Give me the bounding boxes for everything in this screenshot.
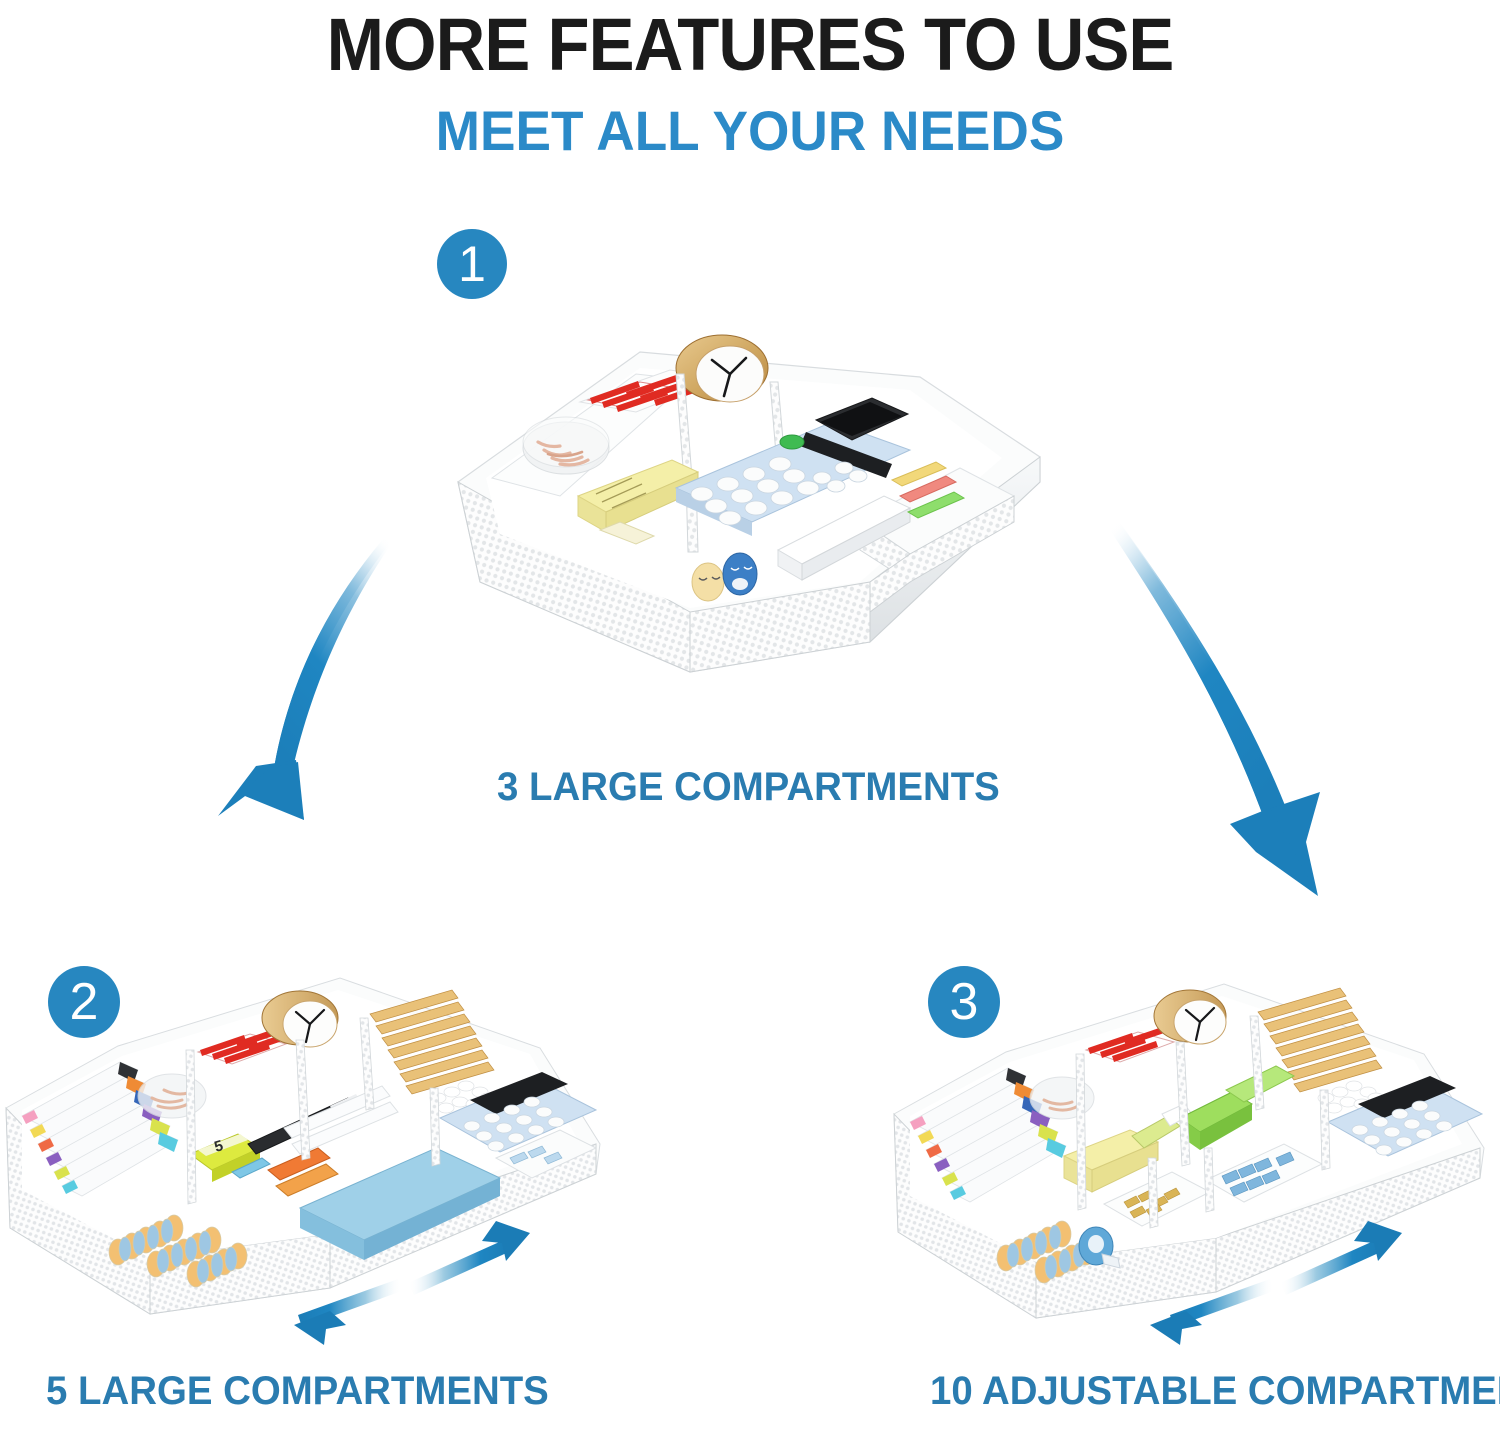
- arrow-down-left: [1150, 1279, 1274, 1345]
- organizer-top-illustration: [440, 282, 1060, 702]
- calculator-on-key: [780, 435, 804, 449]
- page-title: MORE FEATURES TO USE: [53, 2, 1448, 87]
- flow-arrow-left: [200, 520, 530, 850]
- caption-step-2: 5 LARGE COMPARTMENTS: [46, 1369, 549, 1414]
- paper-clips-in-glass-cup: [138, 1074, 206, 1118]
- caption-step-1: 3 LARGE COMPARTMENTS: [497, 765, 1000, 810]
- flow-arrow-right: [1070, 480, 1390, 900]
- caption-step-3: 10 ADJUSTABLE COMPARTMENTS: [930, 1369, 1500, 1414]
- product-image-step-1: [440, 282, 1060, 702]
- arrow-up-right: [408, 1221, 530, 1295]
- arrow-up-right: [1280, 1221, 1402, 1295]
- expand-indicator-step-3: [1140, 1215, 1440, 1350]
- expand-indicator-step-2: [268, 1215, 558, 1350]
- wooden-desk-clock: [676, 335, 768, 402]
- infographic-page: MORE FEATURES TO USE MEET ALL YOUR NEEDS…: [0, 0, 1500, 1431]
- arrow-down-left: [294, 1279, 402, 1345]
- page-subtitle: MEET ALL YOUR NEEDS: [38, 98, 1463, 163]
